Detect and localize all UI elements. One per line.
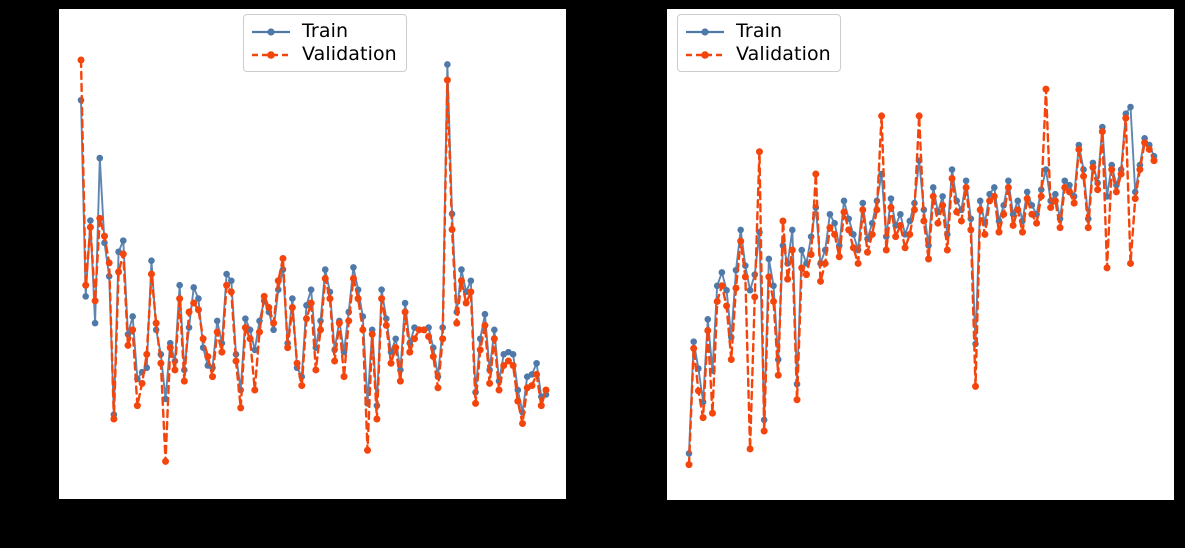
legend-label-train: Train bbox=[302, 20, 348, 43]
data-point bbox=[397, 378, 404, 385]
data-point bbox=[981, 231, 988, 238]
data-point bbox=[134, 402, 141, 409]
data-point bbox=[690, 345, 697, 352]
data-point bbox=[737, 227, 744, 234]
data-point bbox=[841, 209, 848, 216]
data-point bbox=[718, 282, 725, 289]
data-point bbox=[897, 222, 904, 229]
data-point bbox=[1038, 193, 1045, 200]
series-line bbox=[81, 64, 546, 414]
data-point bbox=[789, 227, 796, 234]
data-point bbox=[345, 317, 352, 324]
data-point bbox=[686, 461, 693, 468]
data-point bbox=[491, 335, 498, 342]
data-point bbox=[883, 247, 890, 254]
data-point bbox=[991, 184, 998, 191]
data-point bbox=[510, 362, 517, 369]
data-point bbox=[920, 217, 927, 224]
data-point bbox=[176, 295, 183, 302]
data-point bbox=[1042, 86, 1049, 93]
data-point bbox=[251, 387, 258, 394]
data-point bbox=[223, 271, 230, 278]
data-point bbox=[949, 166, 956, 173]
data-point bbox=[458, 266, 465, 273]
data-point bbox=[439, 335, 446, 342]
data-point bbox=[322, 275, 329, 282]
data-point bbox=[930, 184, 937, 191]
data-point bbox=[1052, 197, 1059, 204]
data-point bbox=[704, 327, 711, 334]
data-point bbox=[449, 226, 456, 233]
data-point bbox=[714, 298, 721, 305]
data-point bbox=[190, 300, 197, 307]
data-point bbox=[350, 275, 357, 282]
data-point bbox=[906, 231, 913, 238]
data-point bbox=[392, 335, 399, 342]
legend-label-train: Train bbox=[736, 20, 782, 43]
data-point bbox=[902, 244, 909, 251]
data-point bbox=[1047, 204, 1054, 211]
data-point bbox=[822, 260, 829, 267]
data-point bbox=[336, 320, 343, 327]
data-point bbox=[458, 277, 465, 284]
data-point bbox=[528, 382, 535, 389]
data-point bbox=[82, 293, 89, 300]
figure-canvas: Train Validation bbox=[0, 0, 1185, 548]
data-point bbox=[430, 353, 437, 360]
data-point bbox=[949, 175, 956, 182]
data-point bbox=[533, 360, 540, 367]
data-point bbox=[953, 209, 960, 216]
data-point bbox=[709, 410, 716, 417]
data-point bbox=[139, 380, 146, 387]
data-point bbox=[756, 148, 763, 155]
data-point bbox=[242, 324, 249, 331]
legend-entry-validation[interactable]: Validation bbox=[251, 43, 397, 66]
data-point bbox=[803, 271, 810, 278]
data-point bbox=[967, 226, 974, 233]
data-point bbox=[784, 276, 791, 283]
data-point bbox=[486, 380, 493, 387]
data-point bbox=[887, 204, 894, 211]
data-point bbox=[124, 342, 131, 349]
data-point bbox=[359, 326, 366, 333]
data-point bbox=[850, 244, 857, 251]
data-point bbox=[204, 353, 211, 360]
data-point bbox=[308, 286, 315, 293]
data-point bbox=[110, 416, 117, 423]
data-point bbox=[719, 269, 726, 276]
data-point bbox=[477, 346, 484, 353]
data-point bbox=[1005, 184, 1012, 191]
data-point bbox=[87, 217, 94, 224]
data-point bbox=[326, 295, 333, 302]
data-point bbox=[779, 217, 786, 224]
data-point bbox=[944, 247, 951, 254]
data-point bbox=[496, 387, 503, 394]
chart-panel-left: Train Validation bbox=[59, 9, 566, 499]
data-point bbox=[491, 327, 498, 334]
data-point bbox=[826, 224, 833, 231]
data-point bbox=[732, 285, 739, 292]
data-point bbox=[977, 198, 984, 205]
data-point bbox=[322, 266, 329, 273]
data-point bbox=[1113, 188, 1120, 195]
data-point bbox=[171, 366, 178, 373]
data-point bbox=[747, 287, 754, 294]
data-point bbox=[789, 247, 796, 254]
data-point bbox=[101, 233, 108, 240]
data-point bbox=[991, 193, 998, 200]
data-point bbox=[1028, 211, 1035, 218]
data-point bbox=[218, 349, 225, 356]
data-point bbox=[1024, 195, 1031, 202]
data-point bbox=[190, 284, 197, 291]
data-point bbox=[836, 253, 843, 260]
data-point bbox=[1000, 211, 1007, 218]
data-point bbox=[1151, 157, 1158, 164]
data-point bbox=[392, 344, 399, 351]
data-point bbox=[467, 288, 474, 295]
data-point bbox=[228, 288, 235, 295]
data-point bbox=[444, 77, 451, 84]
data-point bbox=[341, 373, 348, 380]
data-point bbox=[770, 298, 777, 305]
data-point bbox=[96, 215, 103, 222]
legend-left: Train Validation bbox=[243, 14, 407, 72]
data-point bbox=[765, 273, 772, 280]
data-point bbox=[794, 396, 801, 403]
data-point bbox=[1108, 166, 1115, 173]
data-point bbox=[1024, 189, 1031, 196]
legend-entry-train[interactable]: Train bbox=[251, 20, 397, 43]
data-point bbox=[270, 327, 277, 334]
data-point bbox=[510, 351, 517, 358]
dashed-line-marker-icon bbox=[685, 48, 725, 62]
data-point bbox=[859, 206, 866, 213]
data-point bbox=[1127, 104, 1134, 111]
data-point bbox=[1141, 139, 1148, 146]
data-point bbox=[279, 255, 286, 262]
data-point bbox=[737, 238, 744, 245]
data-point bbox=[284, 344, 291, 351]
legend-entry-train[interactable]: Train bbox=[685, 20, 831, 43]
data-point bbox=[214, 329, 221, 336]
data-point bbox=[453, 320, 460, 327]
data-point bbox=[1057, 224, 1064, 231]
data-point bbox=[411, 335, 418, 342]
data-point bbox=[195, 306, 202, 313]
data-point bbox=[1099, 128, 1106, 135]
data-point bbox=[96, 155, 103, 162]
data-point bbox=[148, 271, 155, 278]
series-line bbox=[689, 89, 1154, 464]
data-point bbox=[120, 251, 127, 258]
data-point bbox=[298, 382, 305, 389]
data-point bbox=[841, 198, 848, 205]
data-point bbox=[383, 322, 390, 329]
data-point bbox=[519, 420, 526, 427]
data-point bbox=[958, 217, 965, 224]
data-point bbox=[106, 259, 113, 266]
data-point bbox=[1094, 186, 1101, 193]
data-point bbox=[481, 322, 488, 329]
data-point bbox=[463, 300, 470, 307]
data-point bbox=[864, 249, 871, 256]
data-point bbox=[1066, 188, 1073, 195]
data-point bbox=[538, 402, 545, 409]
data-point bbox=[247, 335, 254, 342]
data-point bbox=[1080, 173, 1087, 180]
data-point bbox=[888, 195, 895, 202]
data-point bbox=[233, 358, 240, 365]
legend-label-validation: Validation bbox=[736, 43, 831, 66]
data-point bbox=[878, 112, 885, 119]
legend-right: Train Validation bbox=[677, 14, 841, 72]
data-point bbox=[873, 206, 880, 213]
chart-panel-right: Train Validation bbox=[667, 9, 1174, 500]
left-plot-area bbox=[59, 9, 566, 499]
data-point bbox=[92, 297, 99, 304]
data-point bbox=[162, 458, 169, 465]
series-validation bbox=[686, 86, 1158, 468]
data-point bbox=[402, 308, 409, 315]
data-point bbox=[317, 326, 324, 333]
data-point bbox=[775, 372, 782, 379]
data-point bbox=[817, 278, 824, 285]
data-point bbox=[808, 251, 815, 258]
data-point bbox=[1132, 195, 1139, 202]
data-point bbox=[237, 404, 244, 411]
data-point bbox=[930, 193, 937, 200]
data-point bbox=[388, 360, 395, 367]
data-point bbox=[200, 335, 207, 342]
data-point bbox=[533, 371, 540, 378]
data-point bbox=[364, 447, 371, 454]
data-point bbox=[1014, 198, 1021, 205]
data-point bbox=[695, 387, 702, 394]
data-point bbox=[265, 304, 272, 311]
data-point bbox=[728, 356, 735, 363]
data-point bbox=[916, 112, 923, 119]
data-point bbox=[373, 416, 380, 423]
data-point bbox=[543, 387, 550, 394]
legend-entry-validation[interactable]: Validation bbox=[685, 43, 831, 66]
data-point bbox=[214, 318, 221, 325]
data-point bbox=[1052, 191, 1059, 198]
data-point bbox=[120, 237, 127, 244]
data-point bbox=[869, 231, 876, 238]
data-point bbox=[704, 316, 711, 323]
data-point bbox=[690, 338, 697, 345]
data-point bbox=[963, 184, 970, 191]
data-point bbox=[925, 255, 932, 262]
data-point bbox=[176, 282, 183, 289]
data-point bbox=[87, 224, 94, 231]
data-point bbox=[939, 193, 946, 200]
data-point bbox=[350, 264, 357, 271]
data-point bbox=[355, 295, 362, 302]
data-point bbox=[859, 200, 866, 207]
data-point bbox=[972, 383, 979, 390]
data-point bbox=[153, 320, 160, 327]
data-point bbox=[1010, 222, 1017, 229]
data-point bbox=[747, 445, 754, 452]
data-point bbox=[897, 211, 904, 218]
data-point bbox=[261, 293, 268, 300]
data-point bbox=[82, 282, 89, 289]
data-point bbox=[143, 351, 150, 358]
data-point bbox=[1014, 206, 1021, 213]
data-point bbox=[1127, 260, 1134, 267]
data-point bbox=[148, 257, 155, 264]
data-point bbox=[223, 282, 230, 289]
data-point bbox=[242, 315, 249, 322]
data-point bbox=[181, 378, 188, 385]
data-point bbox=[209, 373, 216, 380]
data-point bbox=[798, 264, 805, 271]
data-point bbox=[270, 320, 277, 327]
data-point bbox=[963, 177, 970, 184]
data-point bbox=[766, 256, 773, 263]
data-point bbox=[92, 320, 99, 327]
data-point bbox=[751, 293, 758, 300]
data-point bbox=[934, 220, 941, 227]
data-point bbox=[186, 308, 193, 315]
data-point bbox=[1089, 164, 1096, 171]
line-marker-icon bbox=[685, 25, 725, 39]
data-point bbox=[420, 326, 427, 333]
data-point bbox=[1071, 200, 1078, 207]
data-point bbox=[482, 311, 489, 318]
data-point bbox=[256, 329, 263, 336]
data-point bbox=[700, 414, 707, 421]
data-point bbox=[845, 226, 852, 233]
data-point bbox=[167, 344, 174, 351]
data-point bbox=[289, 304, 296, 311]
data-point bbox=[514, 398, 521, 405]
data-point bbox=[1136, 166, 1143, 173]
data-point bbox=[1005, 177, 1012, 184]
data-point bbox=[402, 300, 409, 307]
data-point bbox=[294, 360, 301, 367]
dashed-line-marker-icon bbox=[251, 48, 291, 62]
data-point bbox=[1146, 146, 1153, 153]
data-point bbox=[1075, 146, 1082, 153]
data-point bbox=[827, 211, 834, 218]
data-point bbox=[331, 358, 338, 365]
data-point bbox=[78, 56, 85, 63]
legend-label-validation: Validation bbox=[302, 43, 397, 66]
data-point bbox=[289, 295, 296, 302]
data-point bbox=[378, 295, 385, 302]
data-point bbox=[1122, 115, 1129, 122]
data-point bbox=[157, 360, 164, 367]
data-point bbox=[129, 313, 136, 320]
data-point bbox=[723, 302, 730, 309]
data-point bbox=[855, 260, 862, 267]
right-plot-area bbox=[667, 9, 1174, 500]
data-point bbox=[378, 286, 385, 293]
data-point bbox=[798, 247, 805, 254]
data-point bbox=[1104, 264, 1111, 271]
data-point bbox=[911, 206, 918, 213]
line-marker-icon bbox=[251, 25, 291, 39]
data-point bbox=[434, 384, 441, 391]
data-point bbox=[468, 277, 475, 284]
data-point bbox=[742, 273, 749, 280]
data-point bbox=[115, 268, 122, 275]
data-point bbox=[996, 229, 1003, 236]
data-point bbox=[1033, 220, 1040, 227]
data-point bbox=[939, 202, 946, 209]
data-point bbox=[312, 366, 319, 373]
data-point bbox=[129, 326, 136, 333]
data-point bbox=[425, 333, 432, 340]
data-point bbox=[308, 300, 315, 307]
data-point bbox=[977, 206, 984, 213]
data-point bbox=[1019, 229, 1026, 236]
data-point bbox=[369, 331, 376, 338]
data-point bbox=[444, 61, 451, 68]
data-point bbox=[892, 233, 899, 240]
data-point bbox=[406, 349, 413, 356]
data-point bbox=[1085, 224, 1092, 231]
data-point bbox=[1118, 171, 1125, 178]
data-point bbox=[275, 277, 282, 284]
data-point bbox=[761, 428, 768, 435]
data-point bbox=[831, 231, 838, 238]
data-point bbox=[472, 400, 479, 407]
data-point bbox=[812, 171, 819, 178]
data-point bbox=[303, 315, 310, 322]
